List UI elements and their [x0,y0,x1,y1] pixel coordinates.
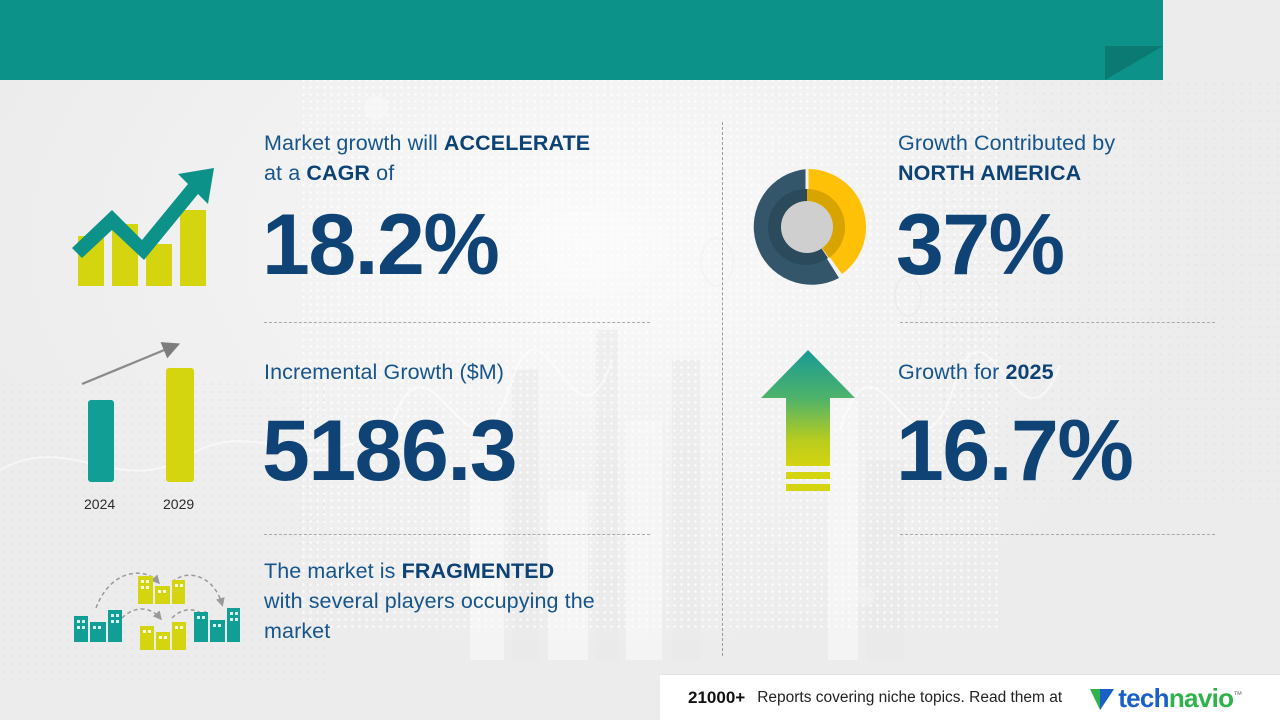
yearly-growth-description: Growth for 2025 [898,357,1228,387]
bar-label-2024: 2024 [84,496,115,512]
incremental-growth-label: Incremental Growth ($M) [264,357,664,387]
cagr-line1-prefix: Market growth will [264,131,444,155]
horizontal-divider [264,534,650,535]
two-bar-chart-icon [70,332,230,502]
reports-count: 21000+ [688,688,745,708]
logo-text-tech: tech [1118,683,1169,713]
logo-trademark: ™ [1233,689,1241,699]
region-description: Growth Contributed by NORTH AMERICA [898,128,1228,188]
region-value: 37% [896,202,1064,288]
header-fold-corner [1105,46,1163,80]
donut-chart-icon [742,162,872,297]
incremental-growth-value: 5186.3 [262,408,516,494]
cagr-line2-bold: CAGR [306,161,370,185]
cagr-description: Market growth will ACCELERATE at a CAGR … [264,128,664,188]
cagr-line2-prefix: at a [264,161,306,185]
up-arrow-gradient-icon [760,348,856,508]
horizontal-divider [264,322,650,323]
cagr-line2-suffix: of [370,161,394,185]
footer-bar: 21000+ Reports covering niche topics. Re… [660,674,1280,720]
yearly-line1-bold: 2025 [1005,360,1053,384]
region-line1: Growth Contributed by [898,131,1115,155]
header-banner [0,0,1163,80]
fragmentation-description: The market is FRAGMENTED with several pl… [264,556,684,646]
frag-line1-prefix: The market is [264,559,402,583]
footer-tagline: Reports covering niche topics. Read them… [757,689,1062,707]
logo-text-navio: navio [1169,683,1233,713]
vertical-divider [722,122,723,656]
frag-line3: market [264,619,330,643]
growth-arrow-chart-icon [66,148,226,298]
horizontal-divider [900,322,1215,323]
yearly-growth-value: 16.7% [896,408,1132,494]
region-line2-bold: NORTH AMERICA [898,161,1081,185]
frag-line2: with several players occupying the [264,589,595,613]
infographic-page: GLOBAL BIOPROCESS BAGS MARKET 2025-2029 … [0,0,1280,720]
yearly-line1-prefix: Growth for [898,360,1005,384]
horizontal-divider [900,534,1215,535]
technavio-logo[interactable]: technavio™ [1088,684,1241,712]
cagr-value: 18.2% [262,202,498,288]
frag-line1-bold: FRAGMENTED [402,559,555,583]
city-buildings-network-icon [72,556,242,657]
bar-label-2029: 2029 [163,496,194,512]
technavio-mark-icon [1088,684,1118,712]
cagr-line1-bold: ACCELERATE [444,131,590,155]
